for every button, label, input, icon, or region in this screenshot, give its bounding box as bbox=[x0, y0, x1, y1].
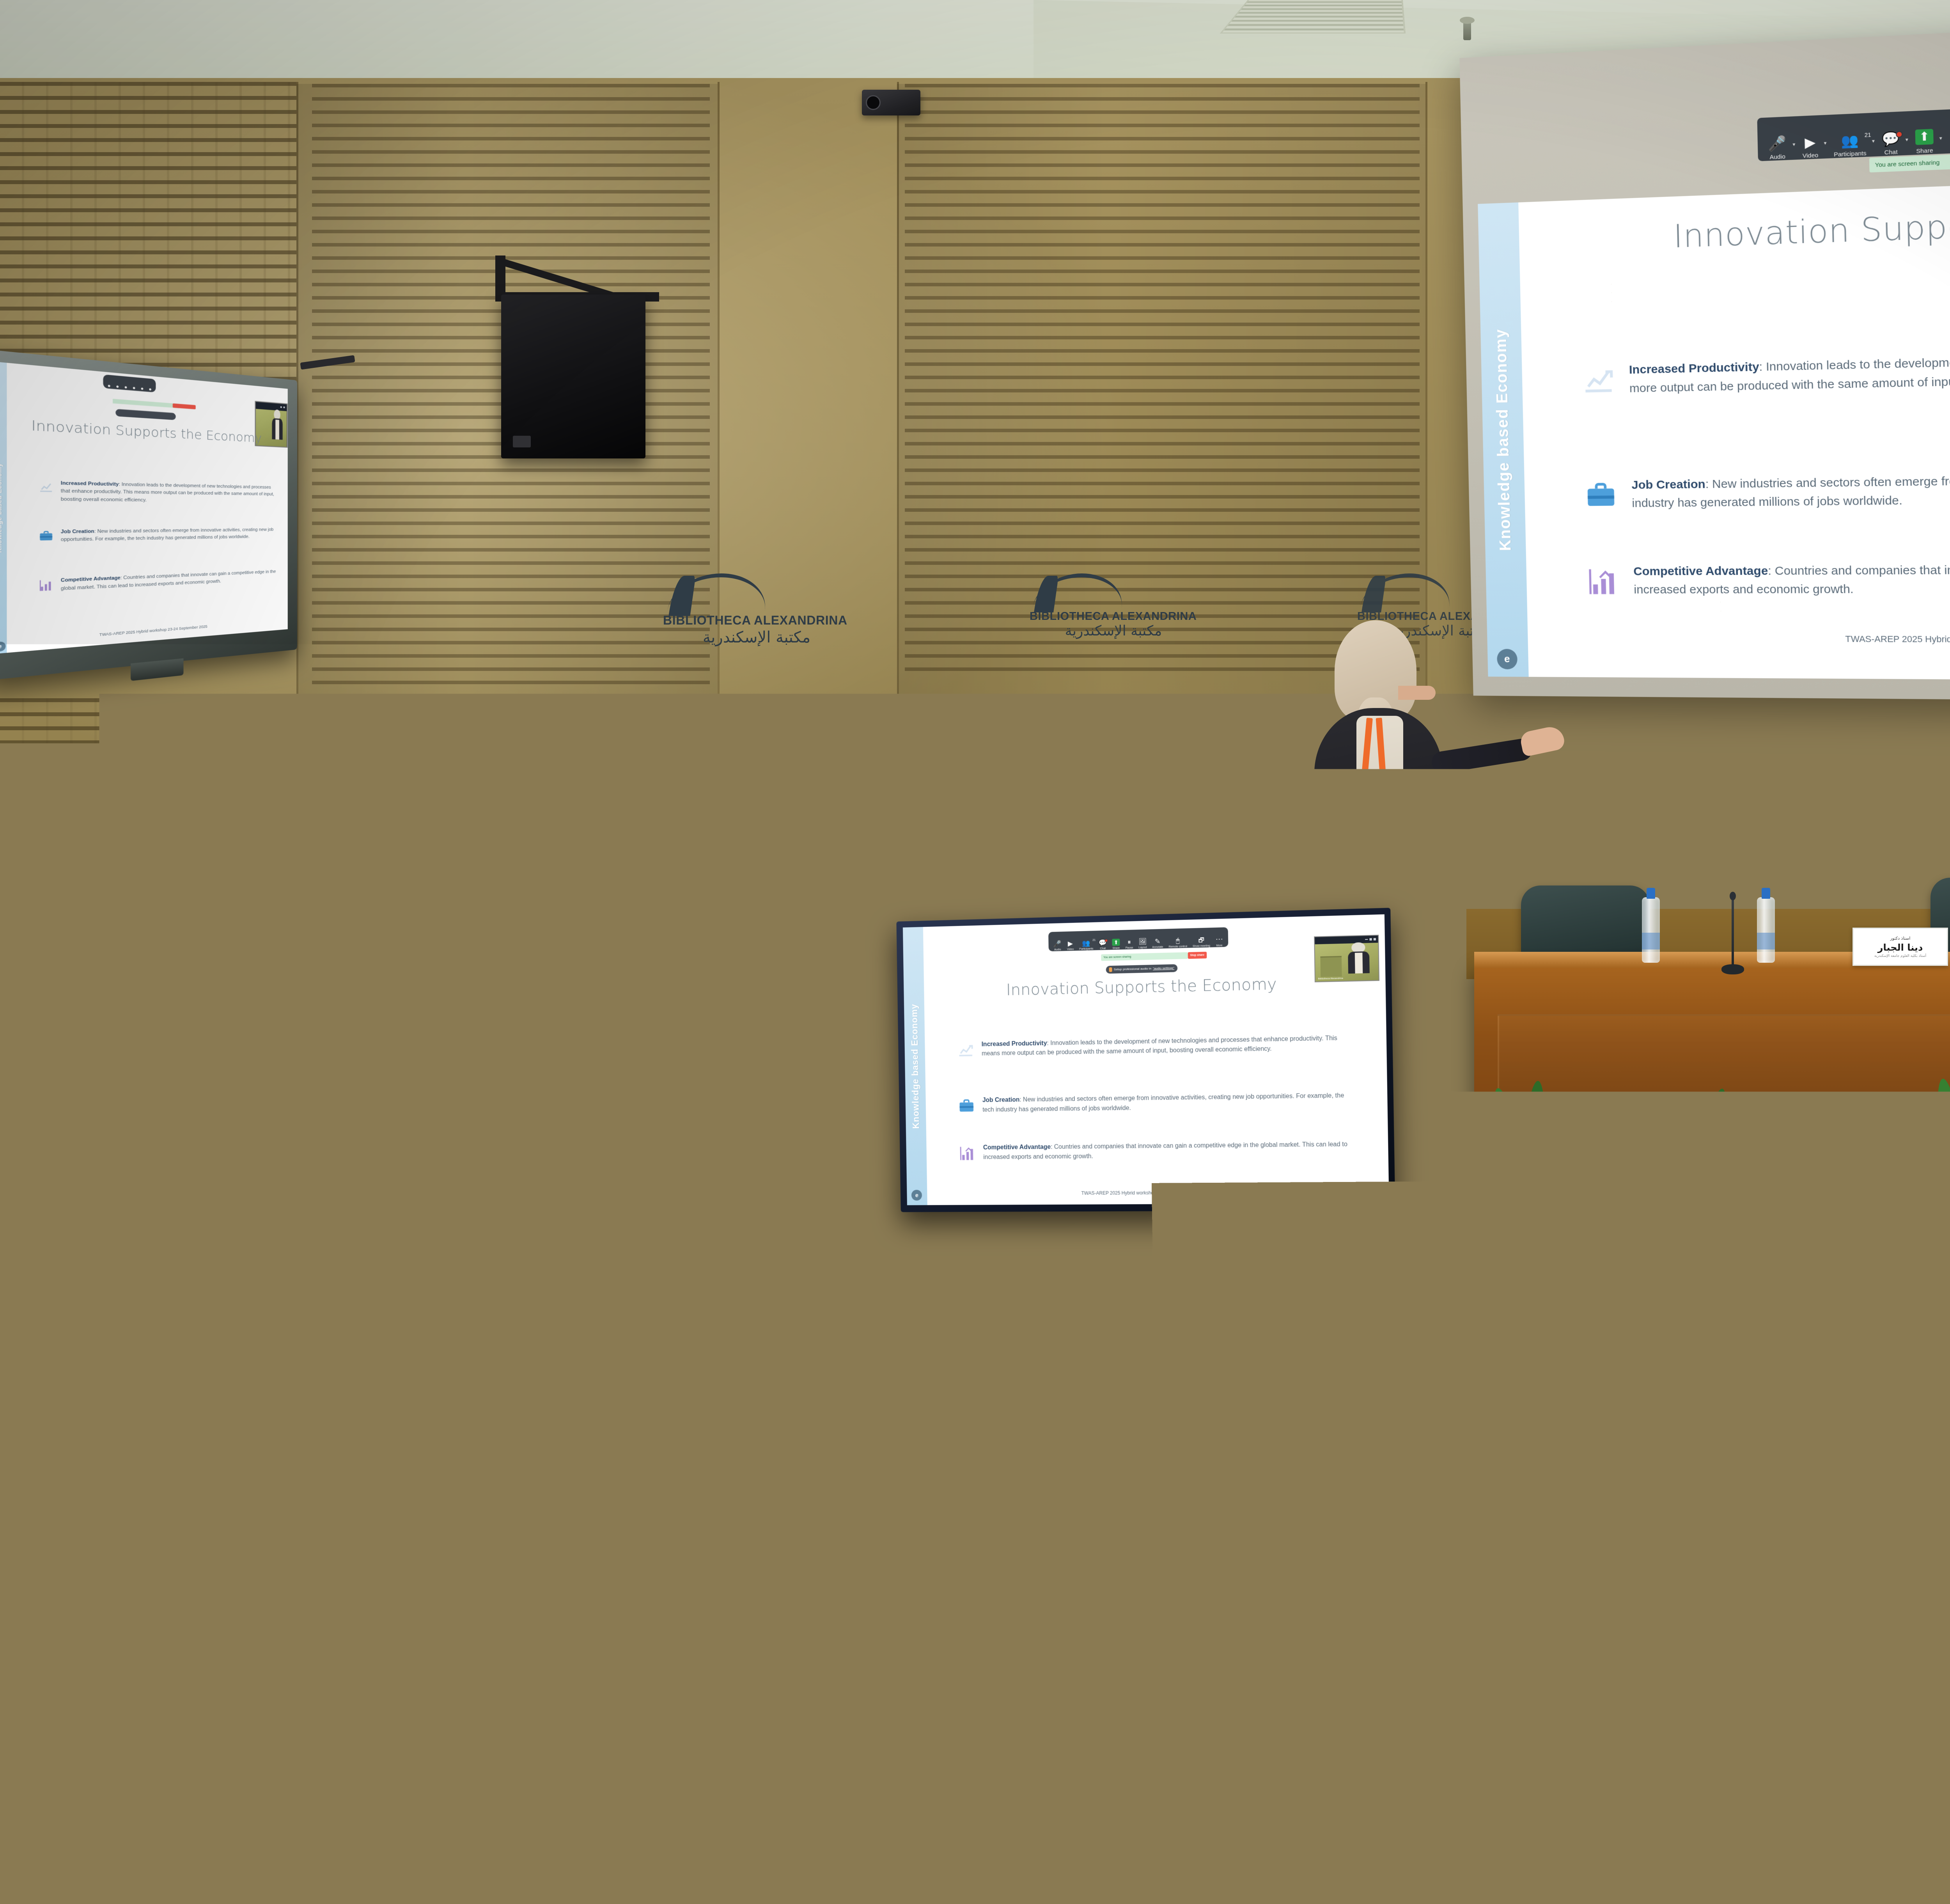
acoustic-slat-panel bbox=[0, 698, 296, 1092]
audience-member-front bbox=[624, 1467, 952, 1904]
slide-render-left: Knowledge based Economy e ● ● ● ● ● ● bbox=[0, 362, 288, 654]
show-meeting-icon: 🗗 bbox=[1198, 937, 1204, 944]
slide-bullet-text: Job Creation: New industries and sectors… bbox=[982, 1091, 1358, 1115]
slide-bullet: Increased Productivity: Innovation leads… bbox=[37, 479, 278, 505]
chevron-down-icon[interactable]: ▾ bbox=[1905, 137, 1908, 143]
speaker-badge bbox=[1375, 831, 1389, 852]
audio-settings-tooltip-mini bbox=[116, 409, 176, 420]
podium-top-surface bbox=[1044, 830, 1343, 846]
zoom-toolbar-item-audio[interactable]: 🎤 Audio bbox=[1762, 136, 1793, 161]
dais-placard: استاذ دكتور دينا الجبار أستاذ بكلية العل… bbox=[1852, 928, 1948, 966]
chart-arrow-up-icon bbox=[956, 1040, 976, 1060]
speaker-arm-right bbox=[1430, 737, 1534, 775]
bar-chart-icon bbox=[37, 577, 55, 594]
conference-folder bbox=[1888, 1880, 1950, 1904]
slide-bullet: Job Creation: New industries and sectors… bbox=[37, 526, 278, 545]
conference-folder bbox=[1306, 1689, 1501, 1732]
slide-bullet-text: Job Creation: New industries and sectors… bbox=[61, 526, 278, 544]
acoustic-slat-panel bbox=[312, 84, 710, 848]
chevron-down-icon[interactable]: ▾ bbox=[1824, 140, 1826, 147]
chevron-down-icon[interactable]: ▾ bbox=[1939, 135, 1942, 142]
ceiling-air-vent-icon bbox=[1220, 0, 1406, 34]
chevron-down-icon[interactable]: ▾ bbox=[1872, 138, 1875, 144]
wall-logo-bibliotheca-left: BIBLIOTHECA ALEXANDRINA مكتبة الإسكندرية bbox=[663, 573, 850, 646]
bar-chart-icon bbox=[1583, 563, 1622, 601]
water-bottle bbox=[1757, 897, 1775, 963]
ba-arch-icon bbox=[1360, 573, 1454, 608]
layout-icon: 🖼 bbox=[1138, 939, 1147, 945]
info-badge-icon bbox=[1109, 967, 1112, 972]
zoom-toolbar-item-pause[interactable]: ⏸ Pause bbox=[1943, 129, 1950, 154]
wall-loudspeaker-icon bbox=[501, 295, 645, 458]
chart-arrow-up-icon bbox=[37, 479, 55, 495]
dais-microphone bbox=[1732, 897, 1734, 967]
zoom-toolbar-mini: ● ● ● ● ● ● bbox=[103, 374, 156, 392]
audio-settings-tooltip: Setup professional audio in "audio setti… bbox=[1106, 964, 1177, 973]
zoom-toolbar-item-participants[interactable]: 👥 21 Participants bbox=[1828, 133, 1872, 158]
zoom-toolbar-item-video[interactable]: ▶ Video bbox=[1796, 135, 1824, 160]
zoom-toolbar-item-chat[interactable]: 💬 Chat bbox=[1876, 132, 1906, 156]
wall-confidence-monitor: Knowledge based Economy e ● ● ● ● ● ● bbox=[0, 349, 297, 681]
conference-hall-photo: BIBLIOTHECA ALEXANDRINA مكتبة الإسكندرية… bbox=[0, 0, 1950, 1904]
security-camera-icon bbox=[862, 90, 920, 115]
water-bottle bbox=[105, 1209, 121, 1268]
attendee-laptop[interactable] bbox=[1365, 1299, 1552, 1416]
zoom-toolbar-front[interactable]: 🎤Audio ▶Video 👥21Participants 💬Chat ⬆Sha… bbox=[1048, 927, 1228, 951]
briefcase-icon bbox=[37, 528, 55, 545]
water-bottle bbox=[1642, 897, 1660, 963]
travel-tumbler bbox=[448, 1209, 470, 1278]
chart-arrow-up-icon bbox=[1579, 362, 1618, 400]
slide-bullet-text: Increased Productivity: Innovation leads… bbox=[982, 1033, 1357, 1059]
share-screen-icon: ⬆ bbox=[1915, 129, 1933, 145]
slide-bullet-text: Job Creation: New industries and sectors… bbox=[1631, 466, 1950, 513]
projection-screen: 🎤 Audio ▾ ▶ Video ▾ 👥 21 Participants ▾ … bbox=[1459, 5, 1950, 704]
slide-bullet: Increased Productivity: Innovation leads… bbox=[956, 1033, 1357, 1061]
remote-control-icon: 🖱 bbox=[1176, 938, 1180, 944]
slide-bullet-text: Competitive Advantage: Countries and com… bbox=[1633, 559, 1950, 599]
audience-member bbox=[1661, 1252, 1872, 1580]
slide-bullet-text: Increased Productivity: Innovation leads… bbox=[1629, 343, 1950, 398]
microphone-icon: 🎤 bbox=[1768, 136, 1787, 151]
water-bottle bbox=[406, 1217, 421, 1276]
slide-title: Innovation Supports the Economy bbox=[904, 972, 1386, 1001]
ba-arch-icon bbox=[667, 573, 770, 611]
power-led-indicator bbox=[1120, 796, 1124, 800]
speaker-arm-left bbox=[1398, 775, 1489, 799]
conference-folder bbox=[226, 1896, 429, 1904]
chat-alert-badge bbox=[1896, 131, 1903, 138]
slide-render-projector: Knowledge based Economy e Innovation Sup… bbox=[1478, 166, 1950, 683]
ba-arch-icon bbox=[1033, 573, 1126, 608]
conference-folder bbox=[1763, 1681, 1950, 1724]
stop-share-button-mini[interactable] bbox=[173, 403, 195, 409]
slide-title: Innovation Supports the Economy bbox=[0, 415, 288, 447]
water-bottle bbox=[659, 1615, 675, 1673]
zoom-toolbar-item-share[interactable]: ⬆ Share bbox=[1909, 129, 1939, 155]
pause-icon: ⏸ bbox=[1127, 939, 1131, 945]
audience-member-front bbox=[1248, 1451, 1599, 1904]
slide-bullet-text: Increased Productivity: Innovation leads… bbox=[61, 479, 278, 505]
video-camera-icon: ▶ bbox=[1805, 135, 1815, 149]
participants-icon: 👥 bbox=[1841, 134, 1859, 148]
slide-footer: TWAS-AREP 2025 Hybrid workshop 23-24 Sep… bbox=[1487, 633, 1950, 646]
share-screen-icon: ⬆ bbox=[1112, 939, 1120, 946]
watermark-rule bbox=[0, 1771, 1267, 1774]
wall-logo-bibliotheca-center: BIBLIOTHECA ALEXANDRINA مكتبة الإسكندرية bbox=[1030, 573, 1197, 639]
participants-icon: 👥 bbox=[1082, 940, 1090, 946]
briefcase-icon bbox=[1581, 476, 1620, 515]
water-bottle bbox=[1092, 1443, 1110, 1510]
screen-sharing-status-mini bbox=[113, 399, 179, 408]
slide-bullet: Job Creation: New industries and sectors… bbox=[957, 1091, 1358, 1116]
tablet-device[interactable] bbox=[97, 1463, 246, 1506]
water-bottle bbox=[679, 1400, 694, 1459]
slide-bullet-job-creation: Job Creation: New industries and sectors… bbox=[1581, 466, 1950, 515]
slide-bullet-increased-productivity: Increased Productivity: Innovation leads… bbox=[1579, 343, 1950, 400]
ceiling-sprinkler-icon bbox=[1463, 21, 1471, 40]
briefcase-icon bbox=[957, 1096, 977, 1116]
tablet-device[interactable] bbox=[1911, 1467, 1950, 1510]
tablet-device[interactable] bbox=[195, 1677, 398, 1728]
slide-sidebar: Knowledge based Economy bbox=[0, 362, 7, 654]
annotate-pen-icon: ✎ bbox=[1155, 938, 1161, 944]
slide-bullet-text: Competitive Advantage: Countries and com… bbox=[61, 568, 278, 593]
screen-sharing-status: You are screen sharing bbox=[1101, 952, 1188, 961]
slide-bullet-competitive-advantage: Competitive Advantage: Countries and com… bbox=[1583, 559, 1950, 600]
audience-member bbox=[1002, 1244, 1213, 1564]
audience-area: الأستاذ الدكتور/ محمد عبد ربه كلية العلو… bbox=[0, 1155, 1950, 1904]
podium-monitor bbox=[1112, 714, 1271, 823]
monitor-screen: Knowledge based Economy e ● ● ● ● ● ● bbox=[0, 362, 288, 654]
speaker-face bbox=[1398, 686, 1436, 700]
more-ellipsis-icon: ⋯ bbox=[1216, 935, 1223, 943]
speaker-hand-left bbox=[1479, 773, 1516, 795]
projected-slide: Knowledge based Economy e Innovation Sup… bbox=[1478, 166, 1950, 683]
water-bottle bbox=[1704, 1420, 1720, 1478]
water-bottle bbox=[1119, 1404, 1135, 1463]
speaker-hijab bbox=[1335, 620, 1416, 722]
video-camera-icon: ▶ bbox=[1068, 940, 1073, 947]
water-bottle bbox=[643, 1818, 665, 1896]
slide-bullet: Competitive Advantage: Countries and com… bbox=[37, 568, 278, 594]
microphone-icon: 🎤 bbox=[1053, 940, 1062, 947]
chevron-down-icon[interactable]: ▾ bbox=[1792, 141, 1795, 148]
stop-share-button[interactable]: Stop share bbox=[1188, 952, 1207, 959]
